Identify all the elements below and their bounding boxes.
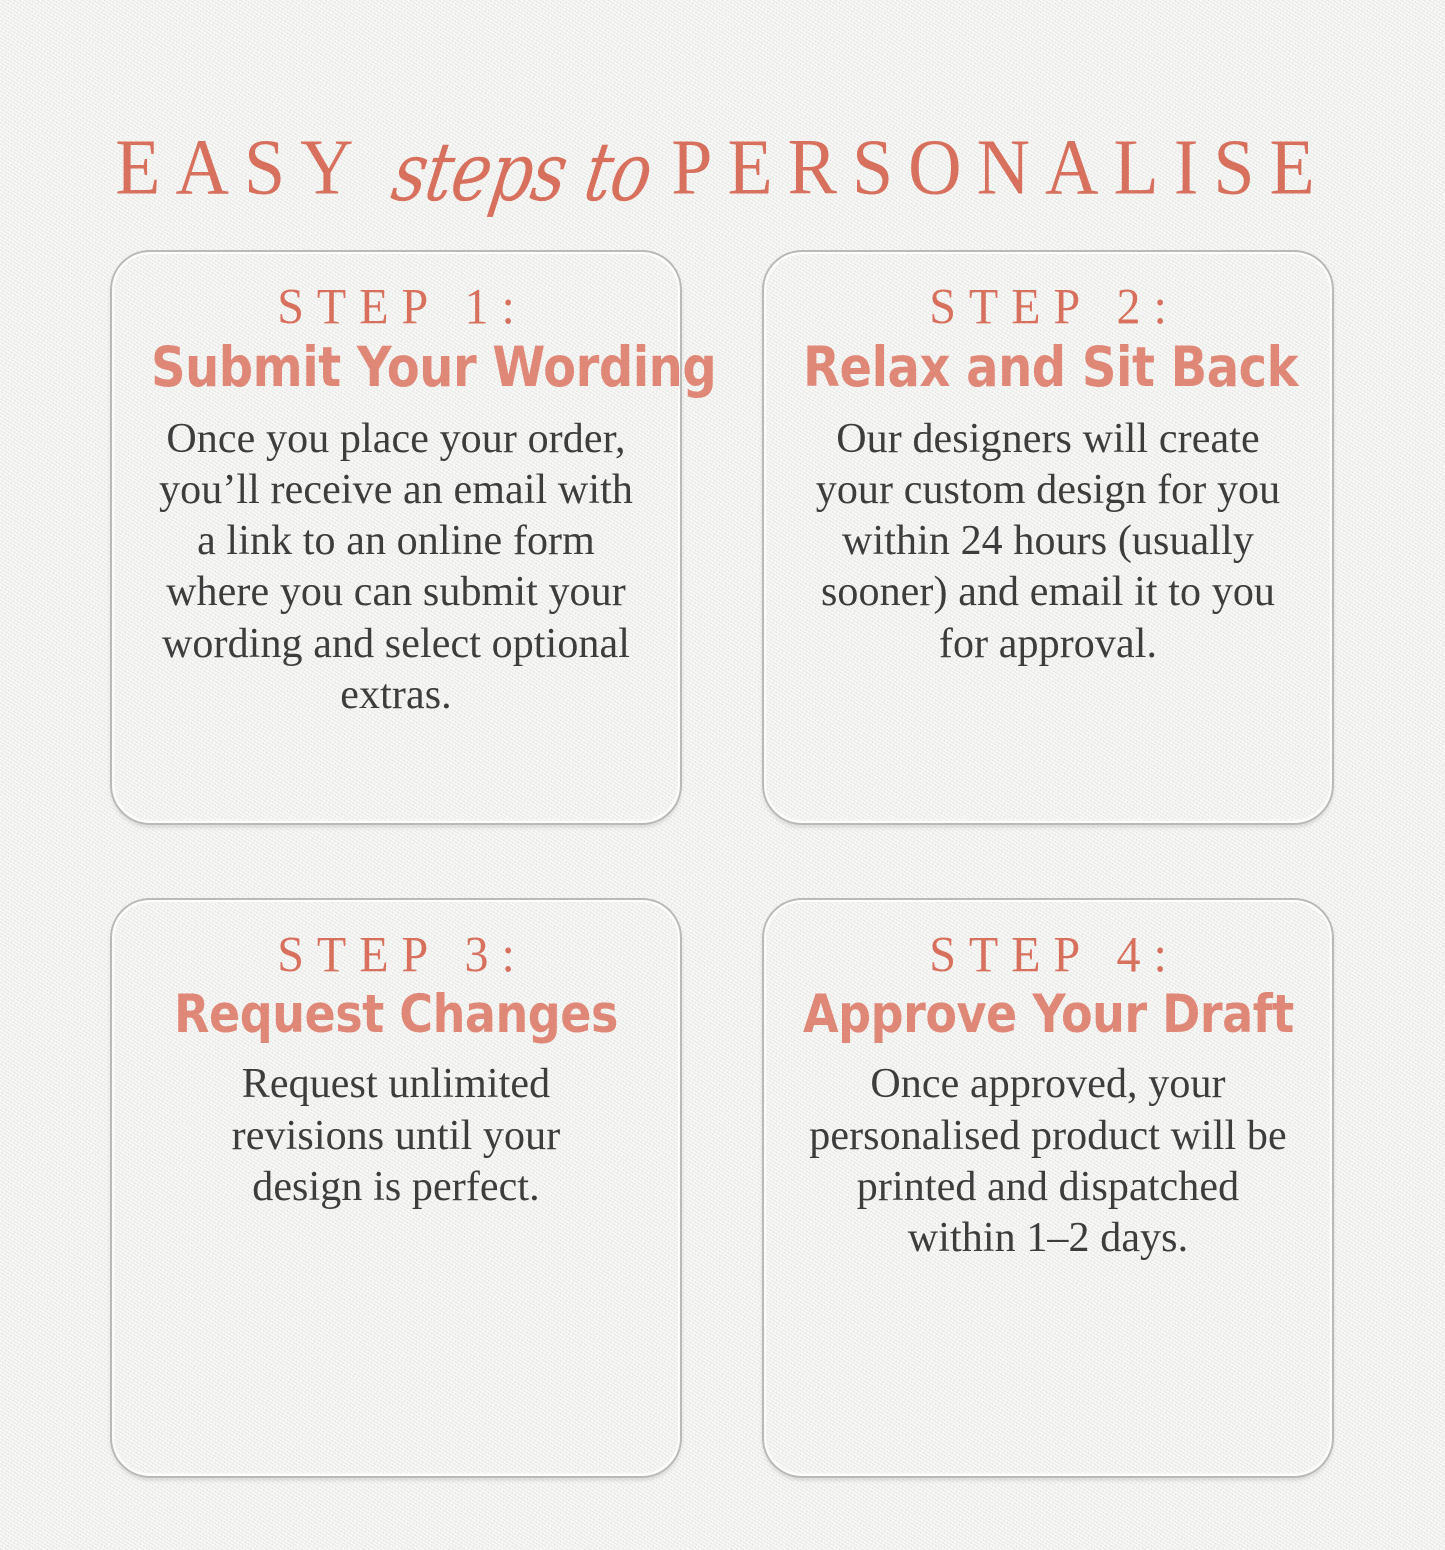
step-title-2: Relax and Sit Back bbox=[803, 338, 1293, 399]
step-title-3: Request Changes bbox=[151, 986, 641, 1045]
step-body-3: Request unlimited revisions until your d… bbox=[146, 1059, 646, 1213]
step-body-4: Once approved, your personalised product… bbox=[798, 1059, 1298, 1264]
page-title-easy: EASY bbox=[115, 128, 368, 207]
step-body-1: Once you place your order, you’ll receiv… bbox=[146, 414, 646, 721]
step-body-2: Our designers will create your custom de… bbox=[798, 414, 1298, 670]
step-card-3: STEP 3: Request Changes Request unlimite… bbox=[110, 898, 682, 1478]
step-label-1: STEP 1: bbox=[146, 281, 646, 336]
step-title-1: Submit Your Wording bbox=[151, 338, 641, 399]
page-title-personalise: PERSONALISE bbox=[671, 128, 1329, 207]
personalise-steps-infographic: EASY steps to PERSONALISE STEP 1: Submit… bbox=[0, 0, 1445, 1550]
page-title-steps-to-script: steps to bbox=[370, 131, 670, 212]
step-card-2: STEP 2: Relax and Sit Back Our designers… bbox=[762, 250, 1334, 825]
step-label-4: STEP 4: bbox=[798, 929, 1298, 984]
step-label-3: STEP 3: bbox=[146, 929, 646, 984]
step-label-2: STEP 2: bbox=[798, 281, 1298, 336]
step-card-1: STEP 1: Submit Your Wording Once you pla… bbox=[110, 250, 682, 825]
step-title-4: Approve Your Draft bbox=[803, 986, 1293, 1045]
step-card-4: STEP 4: Approve Your Draft Once approved… bbox=[762, 898, 1334, 1478]
page-title: EASY steps to PERSONALISE bbox=[0, 118, 1445, 218]
